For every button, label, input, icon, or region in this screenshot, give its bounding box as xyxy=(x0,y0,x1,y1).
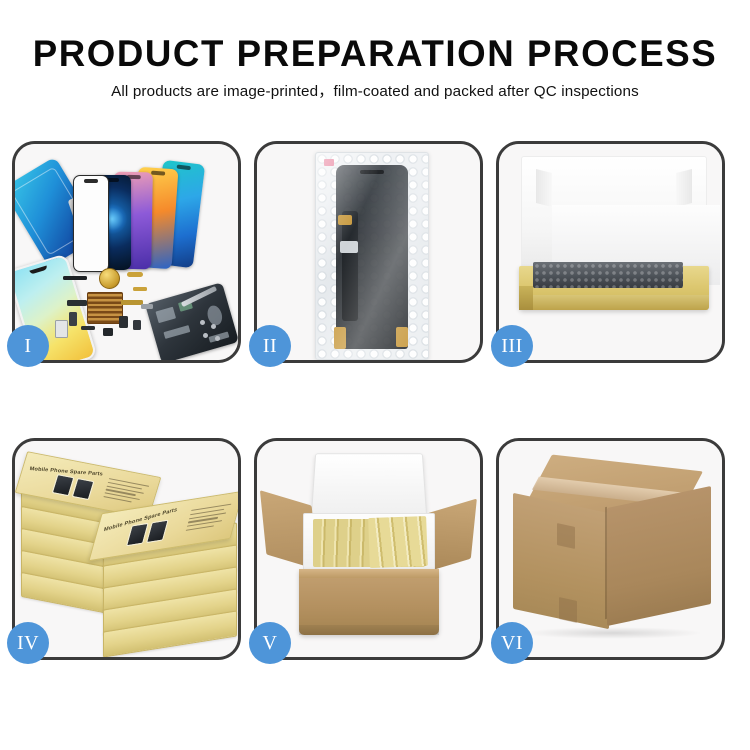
page-title: PRODUCT PREPARATION PROCESS xyxy=(4,34,747,74)
step-iii-image xyxy=(499,144,722,360)
step-badge-v: V xyxy=(249,622,291,664)
lid-flap-left-icon xyxy=(536,169,552,207)
lid-flap-right-icon xyxy=(676,169,692,207)
small-part-icon xyxy=(119,316,128,328)
small-part-icon xyxy=(69,312,77,326)
foam-lid-icon xyxy=(521,156,707,276)
step-vi-image xyxy=(499,441,722,657)
process-step-panel-ii: II xyxy=(254,141,483,363)
box-print-screen-image xyxy=(72,478,95,500)
box-print-screen-image xyxy=(126,523,149,547)
chip-icon xyxy=(155,307,176,323)
connector-grid-icon xyxy=(87,292,123,324)
box-print-text-lines xyxy=(103,478,150,507)
yellow-tray-box-icon xyxy=(519,266,709,310)
step-iv-image: Mobile Phone Spare Parts Mobile Phone Sp… xyxy=(15,441,238,657)
page-subtitle: All products are image-printed，film-coat… xyxy=(0,83,750,101)
flex-cable-icon xyxy=(127,272,143,277)
small-part-icon xyxy=(67,300,87,306)
phone-lineup-group xyxy=(73,158,233,278)
box-print-screen-image xyxy=(52,474,75,496)
motherboard-icon xyxy=(145,282,238,360)
carton-tab-icon xyxy=(557,523,575,549)
carton-shadow-icon xyxy=(523,627,703,639)
carton-tab-icon xyxy=(559,597,577,623)
chip-icon xyxy=(163,325,190,339)
notch-icon xyxy=(84,179,98,183)
box-print-text-lines xyxy=(185,504,232,534)
step-badge-vi: VI xyxy=(491,622,533,664)
kraft-carton-body-icon xyxy=(299,569,439,635)
step-v-image xyxy=(257,441,480,657)
tray-corner-icon xyxy=(519,286,533,310)
notch-icon xyxy=(151,171,165,175)
sim-tray-icon xyxy=(55,320,68,338)
carton-right-face-icon xyxy=(607,486,711,626)
process-step-panel-i: I xyxy=(12,141,241,363)
bubble-wrapped-contents-icon xyxy=(533,262,683,288)
box-print-screen-image xyxy=(146,520,169,544)
earpiece-mesh-icon xyxy=(63,276,87,280)
phone-parts-scene xyxy=(15,144,238,360)
step-badge-iii: III xyxy=(491,325,533,367)
screw-icon xyxy=(203,333,208,338)
bubble-wrap-bag-icon xyxy=(315,152,429,360)
screw-icon xyxy=(215,336,220,341)
step-badge-i: I xyxy=(7,325,49,367)
vibration-motor-icon xyxy=(99,268,120,289)
carton-rim-icon xyxy=(299,569,439,578)
process-step-panel-v: V xyxy=(254,438,483,660)
process-step-panel-iv: Mobile Phone Spare Parts Mobile Phone Sp… xyxy=(12,438,241,660)
carton-edge-icon xyxy=(605,507,607,619)
small-part-icon xyxy=(141,304,153,309)
phone-white-frame-icon xyxy=(73,175,109,272)
yellow-boxes-row-icon xyxy=(368,516,428,568)
process-step-panel-iii: III xyxy=(496,141,725,363)
process-steps-grid: I II xyxy=(12,141,738,660)
sealed-carton-icon xyxy=(513,463,711,635)
step-ii-image xyxy=(257,144,480,360)
process-step-panel-vi: VI xyxy=(496,438,725,660)
screw-icon xyxy=(211,324,216,329)
foam-lid-open-icon xyxy=(311,453,428,519)
screws-group-icon xyxy=(198,318,224,344)
screw-icon xyxy=(200,320,205,325)
speaker-icon xyxy=(103,328,113,336)
plastic-sheen-icon xyxy=(316,153,428,359)
header: PRODUCT PREPARATION PROCESS All products… xyxy=(0,0,750,101)
box-stack-group: Mobile Phone Spare Parts Mobile Phone Sp… xyxy=(19,455,238,653)
small-part-icon xyxy=(81,326,95,330)
step-badge-ii: II xyxy=(249,325,291,367)
product-preparation-infographic: PRODUCT PREPARATION PROCESS All products… xyxy=(0,0,750,750)
gold-contact-icon xyxy=(121,300,143,305)
step-badge-iv: IV xyxy=(7,622,49,664)
flex-cable-icon xyxy=(133,287,147,291)
step-i-image xyxy=(15,144,238,360)
small-part-icon xyxy=(133,320,141,330)
notch-icon xyxy=(177,165,191,170)
tray-front-panel-icon xyxy=(519,295,709,310)
